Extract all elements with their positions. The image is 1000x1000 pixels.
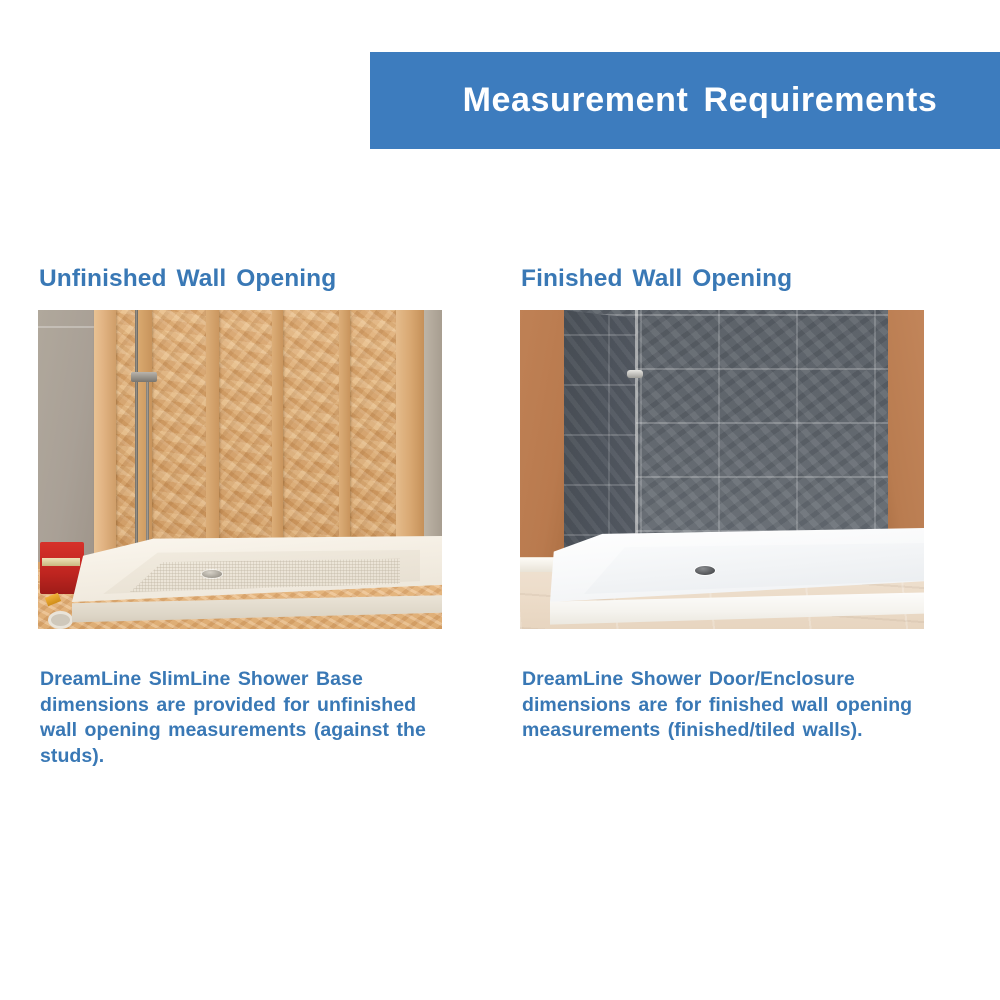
wood-stud <box>339 310 350 554</box>
shower-base-pan <box>584 542 924 594</box>
shower-valve <box>627 370 643 378</box>
slimline-shower-base <box>550 528 924 629</box>
unfinished-wall-opening-photo <box>38 310 442 629</box>
drain-icon <box>695 566 715 575</box>
column-unfinished-wall-opening: Unfinished Wall Opening <box>38 265 442 769</box>
drywall-panel <box>38 310 100 562</box>
caption-unfinished: DreamLine SlimLine Shower Base dimension… <box>40 667 442 769</box>
finished-wall-opening-photo <box>520 310 924 629</box>
section-title-finished: Finished Wall Opening <box>521 265 924 293</box>
plumbing-riser-pipe <box>135 310 138 552</box>
measurement-requirements-banner: Measurement Requirements <box>370 52 1000 149</box>
drain-icon <box>202 570 222 578</box>
section-title-unfinished: Unfinished Wall Opening <box>39 265 442 293</box>
wood-stud <box>138 310 152 564</box>
wood-stud <box>272 310 283 558</box>
page-title: Measurement Requirements <box>433 81 938 120</box>
shower-valve <box>131 372 157 382</box>
wood-stud <box>94 310 116 566</box>
column-finished-wall-opening: Finished Wall Opening DreamLine Shower D… <box>520 265 924 744</box>
slimline-shower-base <box>72 536 442 628</box>
wood-stud <box>206 310 219 562</box>
caption-finished: DreamLine Shower Door/Enclosure dimensio… <box>522 667 924 744</box>
tape-roll <box>48 611 73 629</box>
plumbing-riser-pipe <box>146 378 149 546</box>
